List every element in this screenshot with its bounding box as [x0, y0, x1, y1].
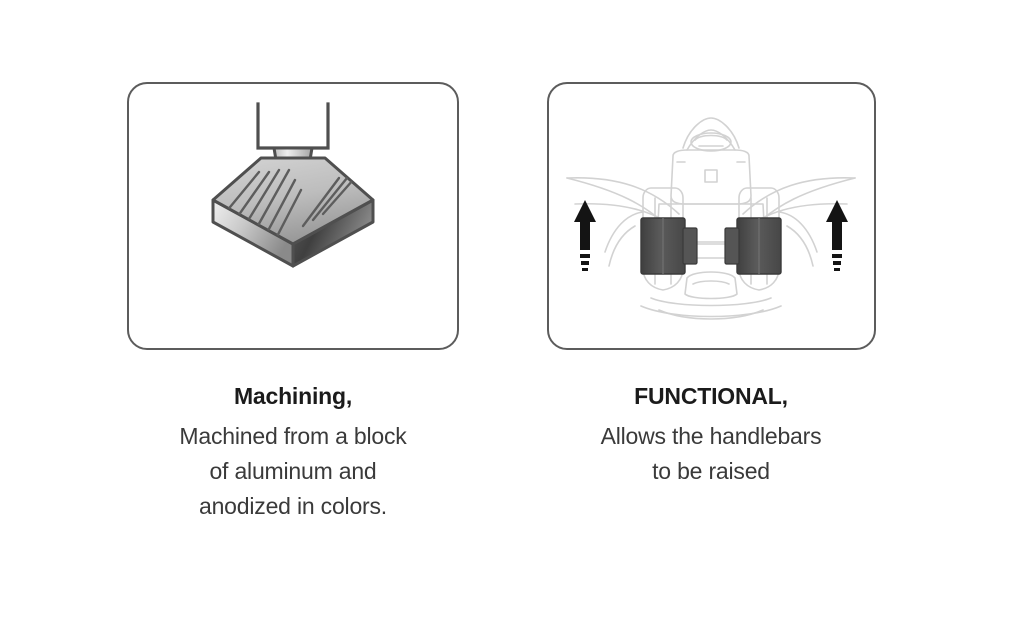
feature-column-functional: FUNCTIONAL, Allows the handlebars to be … — [503, 0, 919, 489]
feature-grid: Machining, Machined from a block of alum… — [0, 0, 1024, 626]
handlebar-line-art — [567, 118, 855, 319]
arrow-up-left-icon — [574, 200, 596, 271]
cnc-milling-machine-icon — [143, 96, 443, 336]
handlebar-riser-icon — [555, 92, 867, 340]
machining-body-line-2: of aluminum and — [113, 454, 473, 489]
machining-body-line-3: anodized in colors. — [113, 489, 473, 524]
machining-body: Machined from a block of aluminum and an… — [113, 419, 473, 524]
functional-icon-card — [547, 82, 876, 350]
feature-column-machining: Machining, Machined from a block of alum… — [85, 0, 501, 524]
spindle-bracket — [258, 104, 328, 148]
arrow-up-right-icon — [826, 200, 848, 271]
workpiece-block — [213, 158, 373, 266]
machining-caption: Machining, Machined from a block of alum… — [113, 384, 473, 524]
functional-body-line-1: Allows the handlebars — [531, 419, 891, 454]
functional-caption: FUNCTIONAL, Allows the handlebars to be … — [531, 384, 891, 489]
functional-title: FUNCTIONAL, — [531, 384, 891, 409]
machining-title: Machining, — [113, 384, 473, 409]
machining-icon-card — [127, 82, 459, 350]
riser-blocks — [641, 218, 781, 274]
functional-body: Allows the handlebars to be raised — [531, 419, 891, 489]
machining-body-line-1: Machined from a block — [113, 419, 473, 454]
functional-body-line-2: to be raised — [531, 454, 891, 489]
